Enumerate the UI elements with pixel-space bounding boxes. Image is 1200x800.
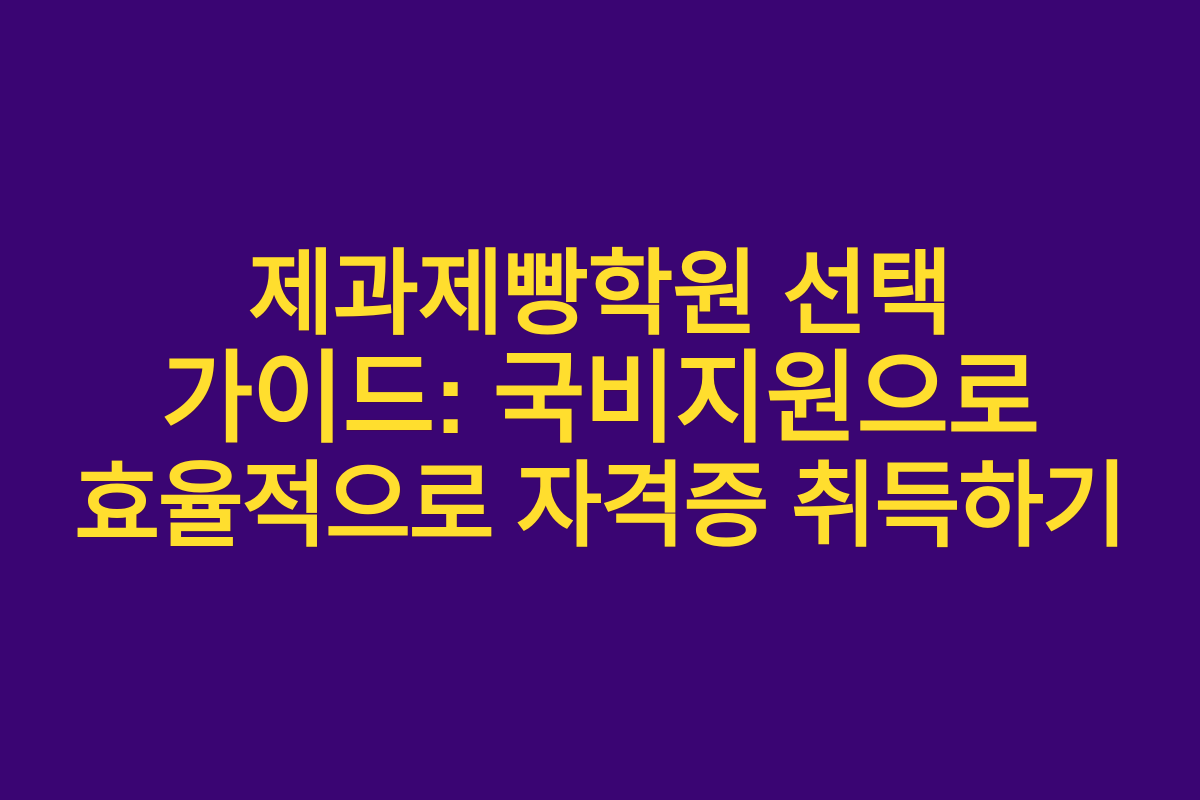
page-title: 제과제빵학원 선택 가이드: 국비지원으로 효율적으로 자격증 취득하기	[0, 241, 1200, 559]
title-line-2: 가이드: 국비지원으로	[161, 347, 1039, 453]
title-card: 제과제빵학원 선택 가이드: 국비지원으로 효율적으로 자격증 취득하기	[0, 0, 1200, 800]
title-line-3: 효율적으로 자격증 취득하기	[74, 453, 1125, 559]
title-line-1: 제과제빵학원 선택	[248, 241, 952, 347]
